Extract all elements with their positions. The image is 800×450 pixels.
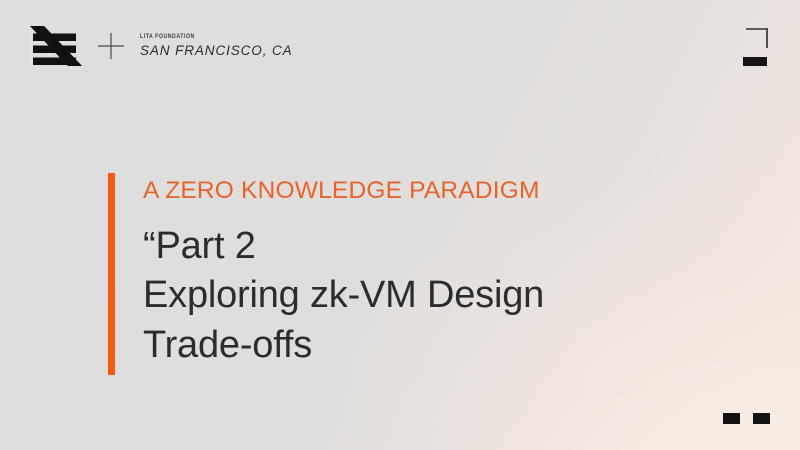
footer-chip-2-icon (753, 413, 770, 424)
location-block: LITA FOUNDATION SAN FRANCISCO, CA (140, 35, 293, 58)
page-title-line-3: Trade-offs (143, 321, 544, 371)
angled-bars-logo-icon (30, 26, 82, 66)
plus-separator-icon (98, 33, 124, 59)
location-name: SAN FRANCISCO, CA (140, 44, 293, 58)
presentation-slide: LITA FOUNDATION SAN FRANCISCO, CA A ZERO… (0, 0, 800, 450)
slide-header: LITA FOUNDATION SAN FRANCISCO, CA (30, 26, 293, 66)
page-title-line-2: Exploring zk-VM Design (143, 271, 544, 321)
footer-chip-group (723, 413, 770, 424)
corner-bracket-horizontal (746, 28, 768, 30)
page-title-line-1: “Part 2 (143, 222, 544, 272)
orange-accent-bar (108, 173, 115, 375)
corner-bracket-icon (746, 28, 768, 48)
title-block: A ZERO KNOWLEDGE PARADIGM “Part 2 Explor… (108, 173, 544, 375)
title-text-group: A ZERO KNOWLEDGE PARADIGM “Part 2 Explor… (115, 173, 544, 375)
slide-eyebrow: A ZERO KNOWLEDGE PARADIGM (143, 179, 544, 204)
page-title: “Part 2 Exploring zk-VM Design Trade-off… (143, 222, 544, 371)
top-right-solid-rectangle-icon (743, 57, 767, 66)
organization-eyebrow: LITA FOUNDATION (140, 34, 293, 40)
corner-bracket-vertical (766, 28, 768, 48)
footer-chip-1-icon (723, 413, 740, 424)
